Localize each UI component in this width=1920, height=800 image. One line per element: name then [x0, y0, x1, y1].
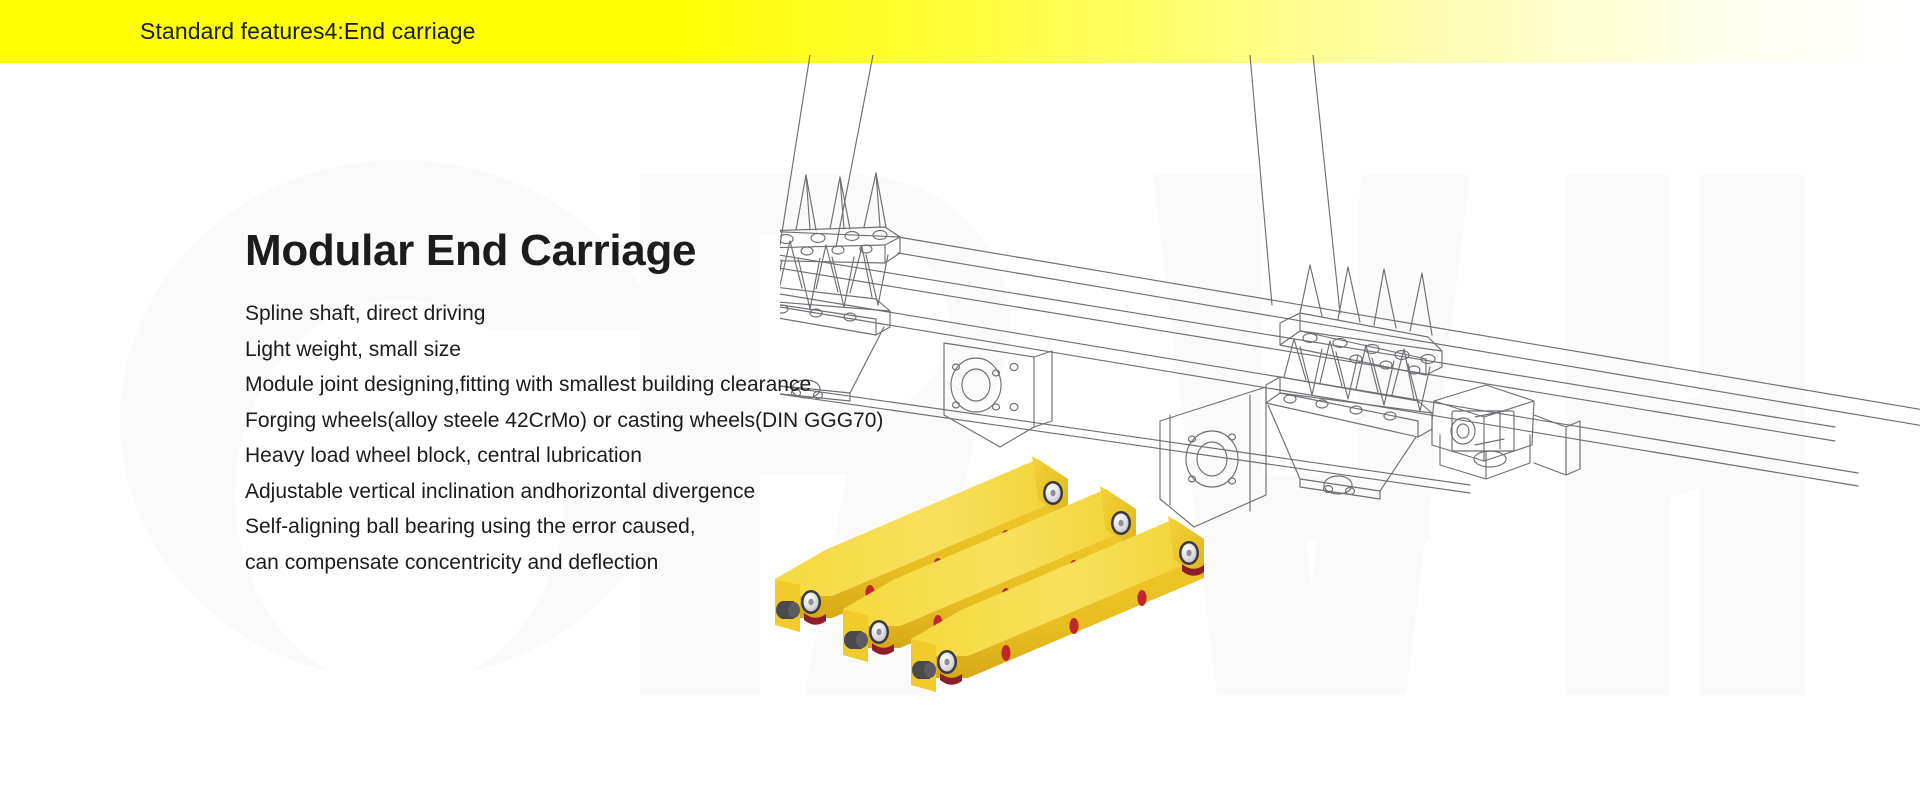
content-text-block: Modular End Carriage Spline shaft, direc…: [245, 228, 1045, 580]
right-drive-unit-cage: [1432, 385, 1580, 479]
feature-item: Module joint designing,fitting with smal…: [245, 367, 1045, 403]
header-title: Standard features4:End carriage: [140, 0, 476, 63]
feature-item: Light weight, small size: [245, 332, 1045, 368]
feature-item: Self-aligning ball bearing using the err…: [245, 509, 1045, 545]
access-hole: [1137, 590, 1146, 606]
feature-item: Adjustable vertical inclination andhoriz…: [245, 474, 1045, 510]
feature-item: can compensate concentricity and deflect…: [245, 545, 1045, 581]
right-upper-bracket: [1280, 265, 1442, 411]
access-hole: [1001, 645, 1010, 661]
access-hole: [1069, 618, 1078, 634]
feature-item: Forging wheels(alloy steele 42CrMo) or c…: [245, 403, 1045, 439]
page-title: Modular End Carriage: [245, 228, 1045, 274]
feature-item: Heavy load wheel block, central lubricat…: [245, 438, 1045, 474]
slide-root: Standard features4:End carriage Modular …: [0, 0, 1920, 800]
header-bar: Standard features4:End carriage: [0, 0, 1920, 63]
feature-item: Spline shaft, direct driving: [245, 296, 1045, 332]
feature-list: Spline shaft, direct driving Light weigh…: [245, 296, 1045, 580]
right-lower-bracket: [1266, 339, 1432, 499]
